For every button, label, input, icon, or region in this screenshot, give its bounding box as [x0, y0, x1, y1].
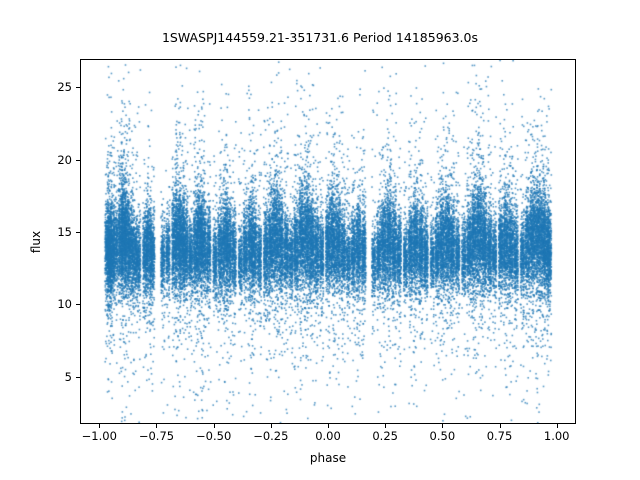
- x-tick-label: 1.00: [544, 430, 570, 442]
- x-tick-mark: [385, 424, 386, 428]
- y-tick-label: 5: [48, 371, 72, 383]
- plot-area: [80, 59, 576, 424]
- x-tick-mark: [214, 424, 215, 428]
- x-tick-mark: [328, 424, 329, 428]
- x-tick-label: 0.00: [315, 430, 341, 442]
- chart-title: 1SWASPJ144559.21-351731.6 Period 1418596…: [0, 31, 640, 45]
- y-axis-label: flux: [30, 230, 43, 252]
- x-tick-mark: [442, 424, 443, 428]
- y-tick-mark: [76, 377, 80, 378]
- figure-canvas: 1SWASPJ144559.21-351731.6 Period 1418596…: [0, 0, 640, 480]
- y-tick-mark: [76, 304, 80, 305]
- y-tick-label: 15: [48, 226, 72, 238]
- x-tick-label: −0.75: [139, 430, 174, 442]
- x-tick-mark: [271, 424, 272, 428]
- y-tick-mark: [76, 232, 80, 233]
- x-tick-label: −0.50: [196, 430, 231, 442]
- y-tick-label: 10: [48, 298, 72, 310]
- y-tick-mark: [76, 87, 80, 88]
- x-tick-label: 0.25: [372, 430, 398, 442]
- x-tick-label: 0.75: [487, 430, 513, 442]
- scatter-points-layer: [81, 60, 575, 423]
- x-tick-mark: [500, 424, 501, 428]
- x-tick-label: −0.25: [253, 430, 288, 442]
- x-tick-mark: [99, 424, 100, 428]
- y-tick-mark: [76, 160, 80, 161]
- x-tick-mark: [156, 424, 157, 428]
- x-tick-label: −1.00: [82, 430, 117, 442]
- x-tick-mark: [557, 424, 558, 428]
- y-tick-label: 20: [48, 154, 72, 166]
- x-tick-label: 0.50: [430, 430, 456, 442]
- x-axis-label: phase: [80, 452, 576, 465]
- y-tick-label: 25: [48, 81, 72, 93]
